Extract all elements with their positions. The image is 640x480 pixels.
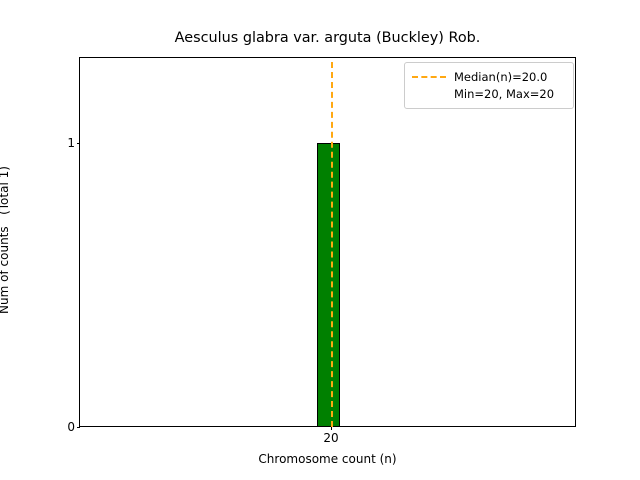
legend-label-minmax: Min=20, Max=20 [454,87,554,101]
x-axis-label: Chromosome count (n) [79,452,576,466]
legend-entry-median: Median(n)=20.0 [412,68,565,85]
chart-figure: Aesculus glabra var. arguta (Buckley) Ro… [0,0,640,480]
y-axis-label: Num of counts (Total 1) [0,0,16,480]
chart-title: Aesculus glabra var. arguta (Buckley) Ro… [79,30,576,47]
ytick-mark-1 [77,143,81,144]
legend-entry-minmax: Min=20, Max=20 [412,85,565,102]
legend-label-median: Median(n)=20.0 [454,70,547,84]
bar-20 [317,143,340,427]
median-line [331,62,333,427]
legend-dashed-line-icon [412,76,446,78]
ytick-label-1: 1 [67,137,75,149]
legend: Median(n)=20.0 Min=20, Max=20 [404,62,574,109]
xtick-label-20: 20 [323,432,338,445]
ytick-label-0: 0 [67,421,75,433]
plot-area: 1 0 20 Median(n)=20.0 Min=20, Max=20 [79,57,576,427]
ytick-mark-0 [77,427,81,428]
